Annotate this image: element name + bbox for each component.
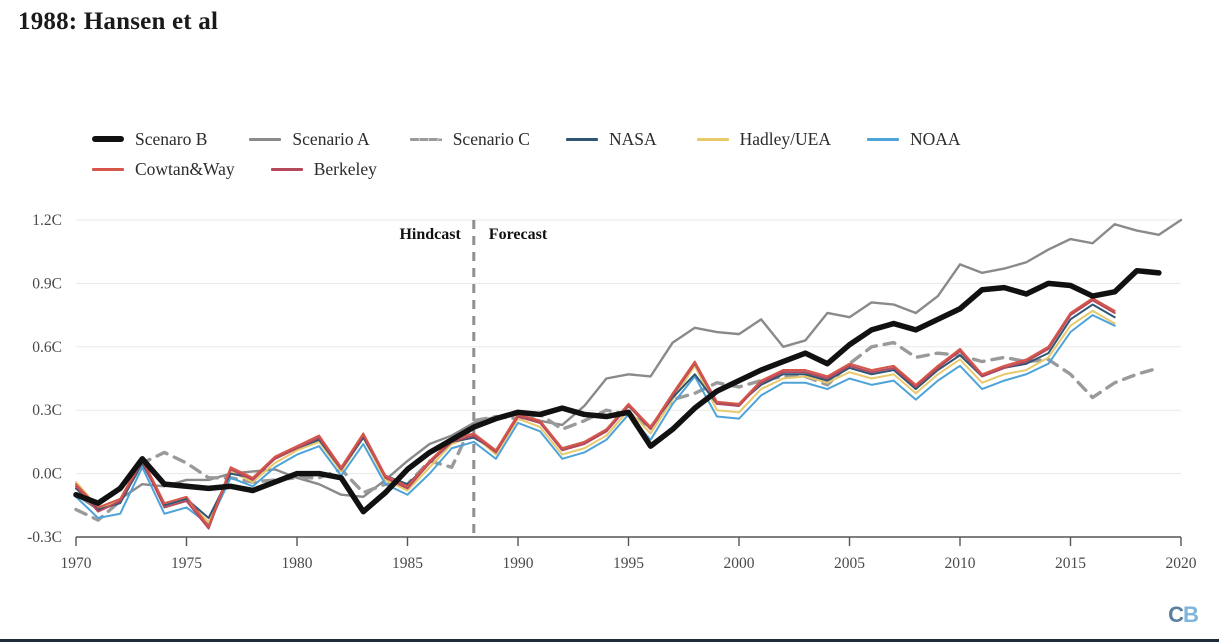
x-axis-tick-label: 2010 [945,555,976,572]
logo-letter-b: B [1183,602,1198,628]
series-line-cowtan-way [76,298,1115,526]
hindcast-label: Hindcast [399,226,461,243]
y-axis-tick-label: -0.3C [27,529,62,546]
y-axis-tick-label: 0.6C [32,339,62,356]
carbon-brief-logo: CB [1163,600,1203,630]
x-axis-tick-label: 1970 [61,555,92,572]
x-axis-tick-label: 2000 [724,555,755,572]
x-axis-tick-label: 1975 [171,555,202,572]
x-axis-tick-label: 1980 [282,555,313,572]
y-axis-tick-label: 0.0C [32,466,62,483]
y-axis-tick-label: 0.9C [32,275,62,292]
x-axis-tick-label: 2015 [1055,555,1086,572]
climate-line-chart: -0.3C0.0C0.3C0.6C0.9C1.2C197019751980198… [0,0,1219,642]
x-axis-tick-label: 1985 [392,555,423,572]
logo-letter-c: C [1168,602,1183,628]
x-axis-tick-label: 1995 [613,555,644,572]
x-axis-tick-label: 2005 [834,555,865,572]
forecast-label: Forecast [489,226,548,243]
y-axis-tick-label: 1.2C [32,212,62,229]
y-axis-tick-label: 0.3C [32,402,62,419]
x-axis-tick-label: 1990 [503,555,534,572]
x-axis-tick-label: 2020 [1166,555,1197,572]
